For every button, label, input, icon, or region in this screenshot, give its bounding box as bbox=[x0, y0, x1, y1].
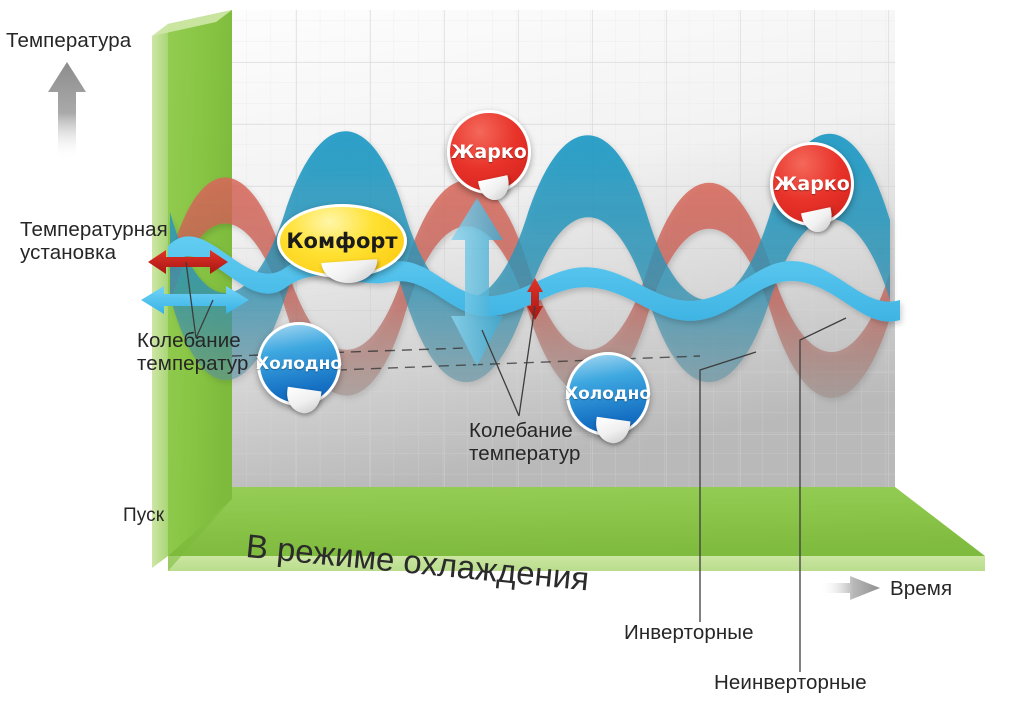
badge-cold-first: Холодно bbox=[257, 322, 341, 406]
badge-cold-second-label: Холодно bbox=[565, 384, 651, 404]
inverter-legend-label: Инверторные bbox=[624, 622, 754, 645]
badge-hot-first-label: Жарко bbox=[451, 141, 527, 163]
non-inverter-legend-label: Неинверторные bbox=[714, 672, 867, 695]
y-axis-label: Температура bbox=[6, 30, 131, 53]
badge-hot-second-label: Жарко bbox=[774, 173, 850, 195]
badge-comfort: Комфорт bbox=[277, 204, 407, 278]
badge-cold-first-label: Холодно bbox=[256, 354, 342, 374]
badge-cold-second: Холодно bbox=[566, 352, 650, 436]
x-axis-arrow-icon bbox=[820, 576, 880, 600]
fluctuation-annotation-center-label: Колебание температур bbox=[469, 420, 581, 466]
x-axis-label: Время bbox=[890, 578, 952, 601]
fluctuation-annotation-left-label: Колебание температур bbox=[137, 330, 249, 376]
setpoint-annotation-label: Температурная установка bbox=[20, 219, 168, 265]
start-label: Пуск bbox=[123, 505, 164, 526]
badge-hot-first: Жарко bbox=[447, 110, 531, 194]
badge-hot-second: Жарко bbox=[770, 142, 854, 226]
y-axis-arrow-icon bbox=[48, 62, 86, 160]
infographic-canvas: Температура Температурная установка Коле… bbox=[0, 0, 1010, 707]
badge-comfort-label: Комфорт bbox=[286, 229, 397, 253]
